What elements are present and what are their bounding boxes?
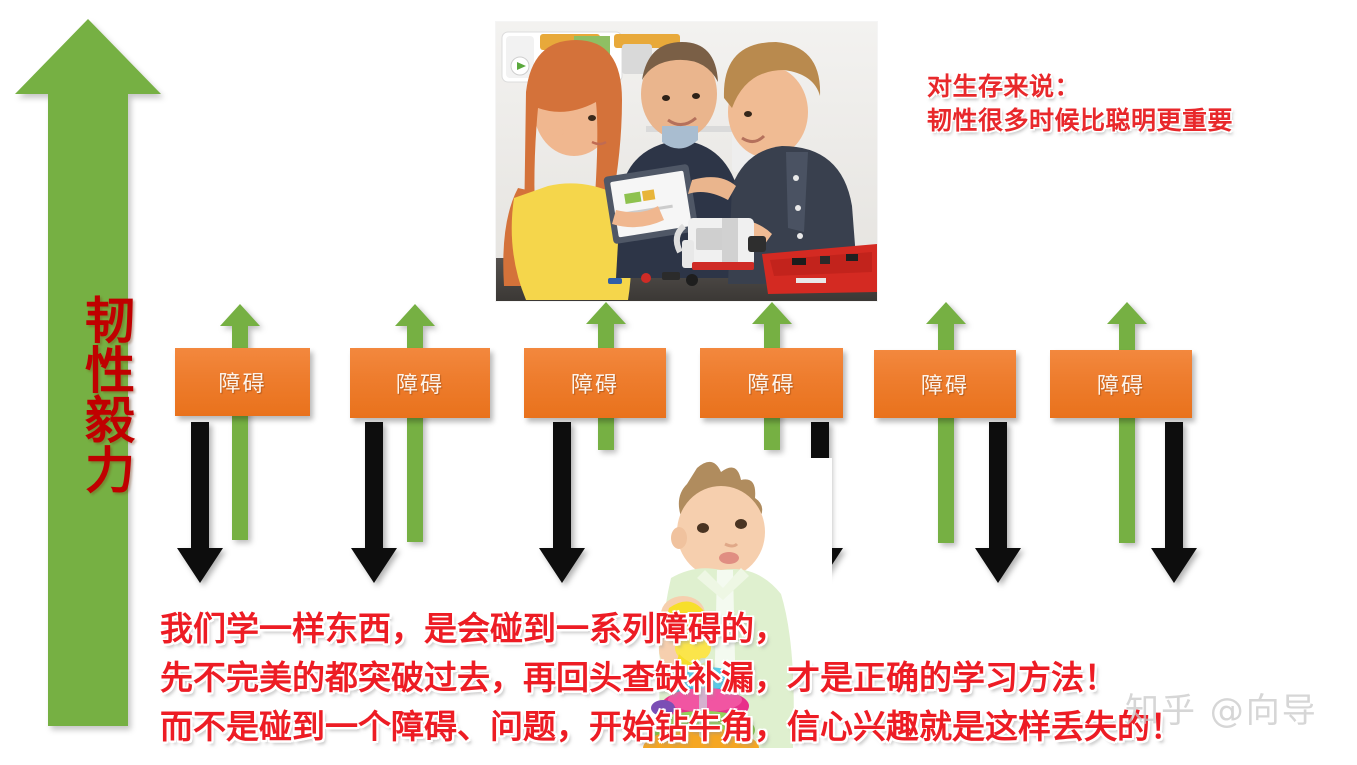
slide-canvas: 韧性毅力 对生存来说： 韧性很多时候比聪明更重要 (0, 0, 1357, 765)
obstacle-label-3: 障碍 (571, 367, 619, 399)
obstacle-box-6[interactable]: 障碍 (1050, 350, 1192, 418)
obstacle-box-5[interactable]: 障碍 (874, 350, 1016, 418)
setback-arrow-1 (175, 422, 225, 585)
obstacle-box-1[interactable]: 障碍 (175, 348, 310, 416)
headline-line-2: 韧性很多时候比聪明更重要 (927, 104, 1327, 138)
setback-arrow-6 (1149, 422, 1199, 585)
headline-block: 对生存来说： 韧性很多时候比聪明更重要 (927, 70, 1327, 138)
progress-arrow-5 (924, 300, 968, 545)
headline-line-1: 对生存来说： (927, 70, 1327, 104)
obstacle-label-5: 障碍 (921, 368, 969, 400)
obstacle-label-6: 障碍 (1097, 368, 1145, 400)
progress-arrow-2 (393, 302, 437, 544)
lego-classroom-photo (496, 22, 877, 301)
obstacle-box-3[interactable]: 障碍 (524, 348, 666, 418)
obstacle-label-1: 障碍 (218, 366, 266, 398)
resilience-arrow-label: 韧性毅力 (58, 269, 136, 519)
zhihu-watermark: 知乎 @向导 (1125, 683, 1318, 732)
obstacle-box-2[interactable]: 障碍 (350, 348, 490, 418)
bottom-message-line-1: 我们学一样东西，是会碰到一系列障碍的， (160, 606, 1350, 653)
progress-arrow-6 (1105, 300, 1149, 545)
setback-arrow-2 (349, 422, 399, 585)
obstacle-label-2: 障碍 (396, 367, 444, 399)
setback-arrow-5 (973, 422, 1023, 585)
obstacle-label-4: 障碍 (747, 367, 795, 399)
resilience-arrow: 韧性毅力 (8, 14, 168, 729)
obstacle-box-4[interactable]: 障碍 (700, 348, 843, 418)
setback-arrow-3 (537, 422, 587, 585)
